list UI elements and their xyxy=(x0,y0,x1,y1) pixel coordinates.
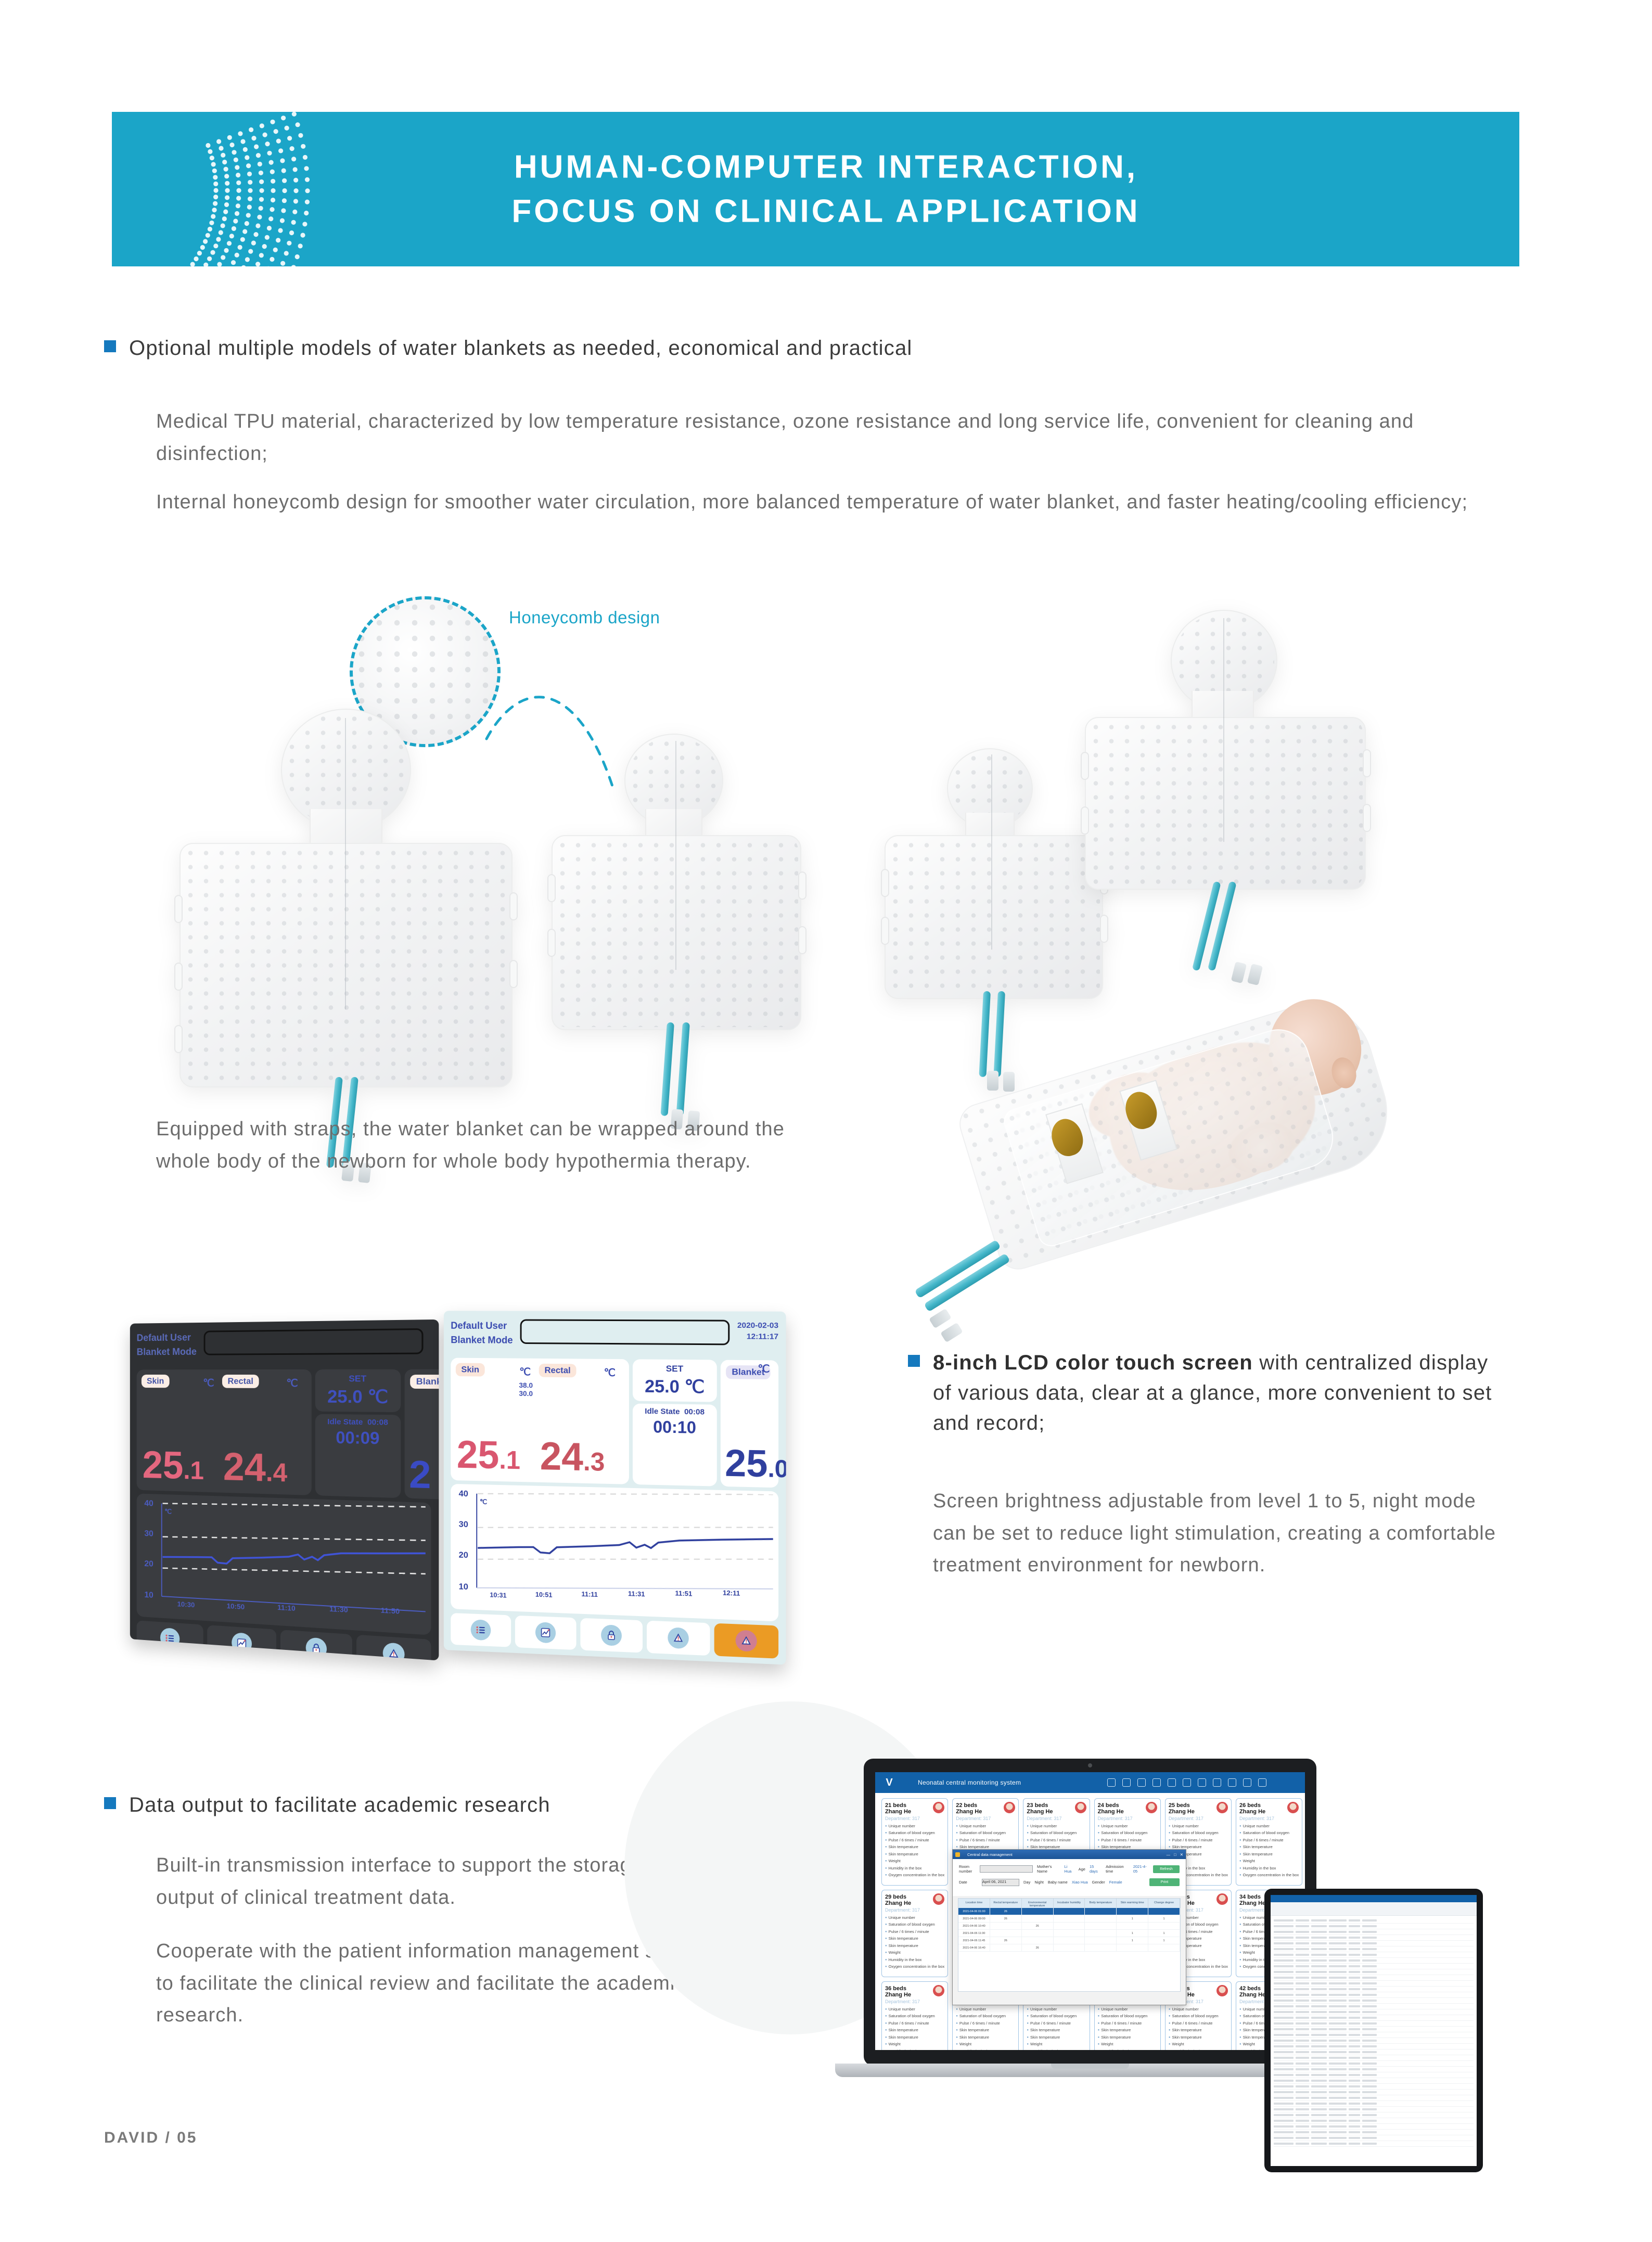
tablet-device xyxy=(1264,1889,1483,2172)
light-alarm-active-button[interactable] xyxy=(714,1623,778,1659)
light-trend-chart[interactable]: 4030 2010 ℃ 10:31 10:51 11:11 11:31 11:5… xyxy=(451,1484,778,1622)
patient-avatar-icon xyxy=(1075,1802,1086,1813)
dialog-column-header: Skin warming time xyxy=(1117,1899,1148,1908)
bed-metric: Saturation of blood oxygen xyxy=(1239,1830,1299,1835)
dialog-table-cell xyxy=(1148,1944,1180,1951)
bed-metric: Weight xyxy=(1239,1859,1299,1863)
dialog-baby-value: Xiao Hua xyxy=(1072,1880,1088,1885)
dialog-table-row[interactable]: 2021-04-06 10:4026 xyxy=(958,1923,1180,1930)
bed-metric: Unique number xyxy=(885,2007,944,2012)
bed-metric: Saturation of blood oxygen xyxy=(956,1830,1015,1835)
tablet-row[interactable] xyxy=(1274,1941,1474,1946)
svg-text:30: 30 xyxy=(459,1519,468,1529)
tablet-row[interactable] xyxy=(1274,1929,1474,1935)
svg-text:10: 10 xyxy=(144,1590,153,1600)
dialog-date-label: Date xyxy=(959,1880,978,1885)
dialog-bed-select[interactable] xyxy=(980,1865,1033,1873)
tablet-screen[interactable] xyxy=(1271,1895,1477,2166)
water-blanket-medium-left xyxy=(552,770,801,1030)
trend-icon xyxy=(232,1632,252,1654)
tablet-row[interactable] xyxy=(1274,1918,1474,1924)
newborn-wrapped-illustration xyxy=(916,968,1478,1290)
bed-department: Department: 317 xyxy=(1098,1816,1157,1821)
light-skin-cell: Skin ℃ 38.0 30.0 25.1 xyxy=(456,1363,539,1479)
dialog-table-cell xyxy=(1117,1923,1148,1929)
dark-rectal-cell: Rectal ℃ 24.4 xyxy=(222,1375,306,1492)
dialog-table-cell xyxy=(1085,1915,1117,1922)
bed-metric: Oxygen concentration in the box xyxy=(1239,1873,1299,1877)
tablet-row[interactable] xyxy=(1274,2118,1474,2124)
dialog-table-cell xyxy=(990,1944,1022,1951)
dark-skin-unit: ℃ xyxy=(203,1377,214,1390)
light-user-name: Default User xyxy=(451,1319,513,1334)
dialog-table-cell xyxy=(1148,1923,1180,1929)
tablet-row[interactable] xyxy=(1274,2095,1474,2101)
dialog-bed-label: Room number xyxy=(959,1864,976,1874)
alarm-icon xyxy=(382,1642,404,1660)
water-blanket-small-right xyxy=(885,780,1103,999)
dialog-table-row[interactable]: 2021-04-06 11:3011 xyxy=(958,1930,1180,1937)
svg-text:℃: ℃ xyxy=(164,1508,172,1515)
dialog-day-radio[interactable]: Day xyxy=(1023,1880,1030,1885)
dialog-table-row[interactable]: 2021-04-06 11:452611 xyxy=(958,1937,1180,1944)
light-skin-max: 38.0 xyxy=(519,1381,533,1389)
svg-text:11:50: 11:50 xyxy=(381,1606,400,1616)
bed-metric: Saturation of blood oxygen xyxy=(885,2014,944,2018)
dialog-table-cell xyxy=(1054,1923,1085,1929)
bed-department: Department: 317 xyxy=(885,1999,944,2004)
bed-metric: Unique number xyxy=(1169,2007,1228,2012)
bed-metric: Saturation of blood oxygen xyxy=(1098,1830,1157,1835)
dialog-admit-value: 2021-4-05 xyxy=(1133,1864,1149,1874)
dialog-table-cell: 1 xyxy=(1148,1937,1180,1944)
toolbar-icon-10[interactable] xyxy=(1243,1778,1251,1787)
bed-metric: Weight xyxy=(885,1859,944,1863)
tablet-row[interactable] xyxy=(1274,1998,1474,2004)
dialog-table-cell: 1 xyxy=(1148,1915,1180,1922)
webcam-icon xyxy=(1088,1763,1092,1767)
dark-skin-value: 25.1 xyxy=(143,1446,204,1486)
dialog-table-cell xyxy=(1085,1908,1117,1915)
tablet-row[interactable] xyxy=(1274,1952,1474,1958)
bed-card[interactable]: 26 bedsZhang HeDepartment: 317Unique num… xyxy=(1236,1798,1302,1886)
dialog-table-cell: 2021-04-06 10:40 xyxy=(958,1923,990,1929)
dialog-gender-label: Gender xyxy=(1092,1880,1105,1885)
dark-trend-button[interactable] xyxy=(207,1625,276,1660)
tablet-app-toolbar xyxy=(1271,1895,1477,1902)
tablet-row[interactable] xyxy=(1274,2084,1474,2090)
bed-metric: Pulse / 6 times / minute xyxy=(1027,1838,1086,1842)
app-logo-icon: V xyxy=(882,1776,896,1789)
tablet-row[interactable] xyxy=(1274,1987,1474,1992)
dialog-table-cell xyxy=(1085,1923,1117,1929)
bed-metric: Humidity in the box xyxy=(1239,1866,1299,1871)
bed-metric: Skin temperature xyxy=(885,1936,944,1941)
paragraph-honeycomb: Internal honeycomb design for smoother w… xyxy=(156,486,1488,519)
tablet-row[interactable] xyxy=(1274,1975,1474,1981)
svg-text:10: 10 xyxy=(459,1582,468,1592)
bed-metric: Saturation of blood oxygen xyxy=(1098,2014,1157,2018)
tablet-row[interactable] xyxy=(1274,2101,1474,2107)
bed-metric: Saturation of blood oxygen xyxy=(885,1830,944,1835)
tablet-row[interactable] xyxy=(1274,2009,1474,2015)
dialog-table-cell: 1 xyxy=(1148,1930,1180,1937)
bullet-lcd-label: 8-inch LCD color touch screen with centr… xyxy=(933,1348,1506,1438)
dark-set-label: SET xyxy=(318,1374,398,1385)
bed-department: Department: 317 xyxy=(885,1816,944,1821)
tablet-row[interactable] xyxy=(1274,2055,1474,2061)
dialog-table-cell: 26 xyxy=(990,1937,1022,1944)
bed-metric: Pulse / 6 times / minute xyxy=(1169,1838,1228,1842)
bed-metric: Skin temperature xyxy=(1169,2028,1228,2032)
toolbar-icon-1[interactable] xyxy=(1107,1778,1116,1787)
dark-idle-row: Idle State 00:08 xyxy=(318,1417,398,1427)
dialog-row-1: Room number Mother's Name Li Hua Age 15 … xyxy=(959,1864,1180,1874)
light-set-label: SET xyxy=(636,1363,714,1374)
dark-patient-field[interactable] xyxy=(203,1328,423,1355)
light-blanket-card: Blanket ℃ 25.0 xyxy=(721,1360,778,1488)
bed-metric: Humidity in the box xyxy=(1027,2049,1086,2051)
dark-idle-value: 00:09 xyxy=(318,1428,398,1449)
bed-department: Department: 317 xyxy=(885,1907,944,1913)
patient-avatar-icon xyxy=(1216,1893,1228,1905)
bullet-data-output-label: Data output to facilitate academic resea… xyxy=(129,1790,550,1820)
tablet-row[interactable] xyxy=(1274,2038,1474,2044)
bed-metric: Skin temperature xyxy=(1239,1852,1299,1856)
light-alarm-button[interactable] xyxy=(647,1621,710,1656)
toolbar-icon-11[interactable] xyxy=(1258,1778,1266,1787)
toolbar-icon-5[interactable] xyxy=(1168,1778,1176,1787)
bed-metric: Skin temperature xyxy=(885,2035,944,2040)
bed-metric: Weight xyxy=(956,2042,1015,2046)
dialog-column-header: Location time xyxy=(958,1899,990,1908)
svg-text:10:30: 10:30 xyxy=(177,1600,195,1609)
paragraph-straps: Equipped with straps, the water blanket … xyxy=(156,1113,843,1177)
bed-metric: Humidity in the box xyxy=(885,1957,944,1962)
tablet-row[interactable] xyxy=(1274,2027,1474,2032)
dark-set-card[interactable]: SET 25.0 ℃ xyxy=(315,1369,401,1412)
tablet-row[interactable] xyxy=(1274,2061,1474,2067)
dialog-night-radio[interactable]: Night xyxy=(1034,1880,1044,1885)
light-datetime: 2020-02-03 12:11:17 xyxy=(737,1320,778,1342)
bed-metric: Skin temperature xyxy=(885,1844,944,1849)
dialog-gender-value: Female xyxy=(1109,1880,1122,1885)
light-lock-button[interactable] xyxy=(580,1618,643,1653)
bed-card[interactable]: 21 bedsZhang HeDepartment: 317Unique num… xyxy=(881,1798,948,1886)
bed-metric: Unique number xyxy=(885,1915,944,1920)
dialog-date-select[interactable]: April 06, 2021 xyxy=(982,1879,1019,1886)
bed-metric: Skin temperature xyxy=(885,1943,944,1948)
bed-card[interactable]: 29 bedsZhang HeDepartment: 317Unique num… xyxy=(881,1890,948,1977)
tablet-subheader xyxy=(1271,1902,1477,1916)
light-skin-tag[interactable]: Skin xyxy=(456,1363,485,1376)
tablet-row[interactable] xyxy=(1274,1964,1474,1969)
light-user-block: Default User Blanket Mode xyxy=(451,1319,513,1348)
trend-icon xyxy=(535,1622,556,1643)
bed-metric: Unique number xyxy=(885,1824,944,1828)
tablet-row[interactable] xyxy=(1274,2124,1474,2130)
dialog-table-cell xyxy=(1085,1944,1117,1951)
bed-metric: Unique number xyxy=(1098,1824,1157,1828)
dark-blanket-tag[interactable]: Blanket xyxy=(410,1375,439,1389)
svg-text:10:50: 10:50 xyxy=(227,1602,245,1611)
bed-metric: Pulse / 6 times / minute xyxy=(956,2021,1015,2026)
laptop-device: V Neonatal central monitoring system xyxy=(864,1759,1316,2066)
bed-department: Department: 317 xyxy=(1027,1816,1086,1821)
svg-text:11:30: 11:30 xyxy=(329,1605,348,1614)
tablet-row[interactable] xyxy=(1274,2044,1474,2049)
tablet-row[interactable] xyxy=(1274,1981,1474,1987)
tablet-row[interactable] xyxy=(1274,2141,1474,2147)
dark-blanket-card: Blanket ℃ 2 xyxy=(405,1369,439,1500)
bed-metric: Skin temperature xyxy=(1027,2028,1086,2032)
dark-chart-svg: 4030 2010 ℃ 10:30 10:50 11:10 11:30 11:5… xyxy=(139,1496,428,1627)
dialog-mother-label: Mother's Name xyxy=(1037,1864,1060,1874)
central-data-dialog[interactable]: Central data management — □ ✕ Room numbe… xyxy=(952,1849,1186,2005)
bed-metric: Humidity in the box xyxy=(1169,2049,1228,2051)
bed-metric: Oxygen concentration in the box xyxy=(885,1964,944,1969)
tablet-row[interactable] xyxy=(1274,1946,1474,1952)
app-toolbar-icons xyxy=(1107,1778,1298,1787)
tablet-row[interactable] xyxy=(1274,2049,1474,2055)
dark-trend-chart[interactable]: 4030 2010 ℃ 10:30 10:50 11:10 11:30 11:5… xyxy=(137,1493,431,1635)
bed-metric: Skin temperature xyxy=(1027,1844,1086,1849)
dialog-column-header: Environmental temperature xyxy=(1022,1899,1054,1908)
dialog-table-cell: 2021-04-06 01:00 xyxy=(958,1908,990,1915)
toolbar-icon-9[interactable] xyxy=(1228,1778,1236,1787)
paragraph-brightness: Screen brightness adjustable from level … xyxy=(933,1485,1516,1582)
dialog-mother-value: Li Hua xyxy=(1065,1864,1074,1874)
laptop-screen[interactable]: V Neonatal central monitoring system xyxy=(875,1772,1305,2050)
dialog-age-label: Age xyxy=(1079,1867,1085,1872)
baby-tube-tip-2 xyxy=(940,1323,963,1343)
light-skin-unit: ℃ xyxy=(519,1365,531,1378)
alarm-active-icon xyxy=(736,1630,757,1651)
svg-text:11:11: 11:11 xyxy=(581,1590,598,1598)
patient-avatar-icon xyxy=(1216,1802,1228,1813)
bed-metric: Skin temperature xyxy=(1098,2028,1157,2032)
dark-rectal-tag[interactable]: Rectal xyxy=(222,1375,259,1388)
dark-mode-label: Blanket Mode xyxy=(137,1345,197,1359)
tablet-row[interactable] xyxy=(1274,1992,1474,1998)
light-date: 2020-02-03 xyxy=(737,1320,778,1331)
bed-department: Department: 317 xyxy=(956,1816,1015,1821)
toolbar-icon-6[interactable] xyxy=(1183,1778,1191,1787)
dialog-table-cell xyxy=(1085,1930,1117,1937)
dark-menu-button[interactable] xyxy=(137,1620,203,1656)
dialog-table-row[interactable]: 2021-04-06 09:002611 xyxy=(958,1915,1180,1923)
tablet-row[interactable] xyxy=(1274,2078,1474,2084)
light-blanket-unit: ℃ xyxy=(758,1362,770,1376)
dark-temperature-card: Skin ℃ 25.1 Rectal ℃ 24.4 xyxy=(137,1369,312,1495)
dialog-table-cell: 26 xyxy=(990,1908,1022,1915)
bed-metric: Pulse / 6 times / minute xyxy=(1169,2021,1228,2026)
bed-metric: Unique number xyxy=(1027,2007,1086,2012)
dialog-table-cell: 26 xyxy=(1022,1923,1054,1929)
tablet-row[interactable] xyxy=(1274,2032,1474,2038)
dialog-table-cell: 2021-04-06 09:00 xyxy=(958,1915,990,1922)
bed-metric: Humidity in the box xyxy=(885,2049,944,2051)
dialog-table-cell xyxy=(1022,1908,1054,1915)
baby-tube-tip-1 xyxy=(929,1309,952,1329)
tablet-row[interactable] xyxy=(1274,2015,1474,2021)
light-idle-card: Idle State 00:08 00:10 xyxy=(633,1404,717,1487)
bed-metric: Humidity in the box xyxy=(956,2049,1015,2051)
light-blanket-value: 25.0 xyxy=(725,1444,786,1484)
tablet-row[interactable] xyxy=(1274,2072,1474,2078)
light-rectal-tag[interactable]: Rectal xyxy=(539,1364,577,1377)
light-set-card[interactable]: SET 25.0 ℃ xyxy=(633,1359,717,1402)
dialog-table-row[interactable]: 2021-04-06 01:0026 xyxy=(958,1908,1180,1915)
tablet-row[interactable] xyxy=(1274,1935,1474,1941)
toolbar-icon-4[interactable] xyxy=(1152,1778,1161,1787)
dark-blanket-value: 2 xyxy=(409,1455,431,1495)
toolbar-icon-7[interactable] xyxy=(1198,1778,1206,1787)
bed-metric: Pulse / 6 times / minute xyxy=(1239,1838,1299,1842)
lcd-screen-day-mode[interactable]: Default User Blanket Mode 2020-02-03 12:… xyxy=(444,1311,786,1664)
bed-metric: Weight xyxy=(1098,2042,1157,2046)
dialog-title: Central data management xyxy=(967,1852,1013,1857)
dialog-table-cell xyxy=(990,1930,1022,1937)
bed-metric: Skin temperature xyxy=(1169,2035,1228,2040)
svg-text:40: 40 xyxy=(144,1498,153,1508)
dialog-column-header: Change degree xyxy=(1148,1899,1180,1908)
bed-metric: Unique number xyxy=(1169,1824,1228,1828)
lock-icon xyxy=(601,1624,622,1646)
toolbar-icon-8[interactable] xyxy=(1213,1778,1221,1787)
dialog-minimize-icon[interactable]: — xyxy=(1167,1852,1171,1857)
dialog-table-cell: 2021-04-06 11:45 xyxy=(958,1937,990,1944)
bed-metric: Skin temperature xyxy=(1098,2035,1157,2040)
dialog-close-icon[interactable]: ✕ xyxy=(1180,1852,1183,1857)
dark-lock-button[interactable] xyxy=(280,1630,352,1660)
svg-text:12:11: 12:11 xyxy=(723,1588,740,1597)
bed-metric: Pulse / 6 times / minute xyxy=(885,2021,944,2026)
bed-department: Department: 317 xyxy=(1239,1816,1299,1821)
page-footer: DAVID / 05 xyxy=(104,2129,198,2147)
dialog-table-cell xyxy=(990,1923,1022,1929)
lcd-screen-night-mode[interactable]: Default User Blanket Mode Skin ℃ 25.1 Re… xyxy=(130,1319,439,1661)
tablet-row[interactable] xyxy=(1274,1969,1474,1975)
dialog-print-button[interactable]: Print xyxy=(1149,1878,1180,1886)
svg-text:20: 20 xyxy=(459,1550,468,1560)
dialog-table-cell xyxy=(1022,1937,1054,1944)
dialog-table-body: 2021-04-06 01:00262021-04-06 09:00261120… xyxy=(958,1908,1180,1952)
dialog-column-header: Rectal temperature xyxy=(990,1899,1022,1908)
dialog-refresh-button[interactable]: Refresh xyxy=(1153,1865,1180,1873)
tablet-row[interactable] xyxy=(1274,2130,1474,2135)
app-title: Neonatal central monitoring system xyxy=(918,1779,1021,1786)
dialog-table-cell xyxy=(1117,1944,1148,1951)
light-patient-field[interactable] xyxy=(520,1319,729,1345)
bed-metric: Saturation of blood oxygen xyxy=(885,1922,944,1927)
bed-metric: Skin temperature xyxy=(956,2035,1015,2040)
dark-set-column: SET 25.0 ℃ Idle State 00:08 00:09 xyxy=(315,1369,401,1498)
dialog-maximize-icon[interactable]: □ xyxy=(1174,1852,1176,1857)
svg-text:10:51: 10:51 xyxy=(535,1591,553,1599)
bed-metric: Unique number xyxy=(956,2007,1015,2012)
light-menu-button[interactable] xyxy=(451,1613,511,1647)
dialog-table-cell xyxy=(1054,1915,1085,1922)
dialog-table-cell: 1 xyxy=(1117,1937,1148,1944)
dialog-table-cell xyxy=(1148,1908,1180,1915)
bullet-blankets-label: Optional multiple models of water blanke… xyxy=(129,333,913,363)
bed-card[interactable]: 36 bedsZhang HeDepartment: 317Unique num… xyxy=(881,1981,948,2050)
light-time: 12:11:17 xyxy=(737,1331,778,1342)
svg-text:11:51: 11:51 xyxy=(675,1589,692,1597)
bed-metric: Unique number xyxy=(1239,1824,1299,1828)
bed-metric: Skin temperature xyxy=(1169,1844,1228,1849)
light-idle-row: Idle State 00:08 xyxy=(636,1407,714,1417)
light-set-column: SET 25.0 ℃ Idle State 00:08 00:10 xyxy=(633,1359,717,1486)
tablet-data-rows xyxy=(1271,1916,1477,2149)
toolbar-icon-2[interactable] xyxy=(1122,1778,1131,1787)
tablet-row[interactable] xyxy=(1274,1958,1474,1964)
bed-metric: Skin temperature xyxy=(956,1844,1015,1849)
light-temperature-card: Skin ℃ 38.0 30.0 25.1 Rectal ℃ 24.3 xyxy=(451,1358,629,1484)
dark-idle-card: Idle State 00:08 00:09 xyxy=(315,1414,401,1498)
dark-alarm-button[interactable] xyxy=(356,1635,431,1661)
page-header-banner: HUMAN-COMPUTER INTERACTION, FOCUS ON CLI… xyxy=(112,112,1519,266)
bed-metric: Weight xyxy=(1027,2042,1086,2046)
tablet-row[interactable] xyxy=(1274,2107,1474,2112)
dialog-admit-label: Admission time xyxy=(1106,1864,1129,1874)
bed-metric: Saturation of blood oxygen xyxy=(1027,1830,1086,1835)
dialog-table-cell xyxy=(1022,1915,1054,1922)
lcd-screens-group: Default User Blanket Mode Skin ℃ 25.1 Re… xyxy=(122,1311,819,1675)
bed-metric: Pulse / 6 times / minute xyxy=(956,1838,1015,1842)
bed-metric: Skin temperature xyxy=(885,1852,944,1856)
dialog-data-table[interactable]: Location timeRectal temperatureEnvironme… xyxy=(958,1898,1181,1992)
tablet-row[interactable] xyxy=(1274,2090,1474,2095)
tablet-row[interactable] xyxy=(1274,2112,1474,2118)
tablet-row[interactable] xyxy=(1274,2135,1474,2141)
dialog-table-cell xyxy=(1054,1937,1085,1944)
paragraph-tpu-material: Medical TPU material, characterized by l… xyxy=(156,406,1488,470)
light-rectal-unit: ℃ xyxy=(604,1366,616,1379)
tablet-row[interactable] xyxy=(1274,2067,1474,2072)
page-title-line1: HUMAN-COMPUTER INTERACTION, xyxy=(514,149,1138,185)
dialog-app-icon xyxy=(955,1852,960,1857)
tablet-row[interactable] xyxy=(1274,2021,1474,2027)
bed-metric: Saturation of blood oxygen xyxy=(1169,2014,1228,2018)
alarm-icon xyxy=(668,1627,688,1649)
dialog-table-cell xyxy=(1085,1937,1117,1944)
tablet-row[interactable] xyxy=(1274,1924,1474,1929)
menu-icon xyxy=(471,1619,491,1641)
dialog-table-row[interactable]: 2021-04-06 16:4026 xyxy=(958,1944,1180,1952)
dark-skin-tag[interactable]: Skin xyxy=(142,1375,170,1388)
app-toolbar: V Neonatal central monitoring system xyxy=(875,1772,1305,1793)
menu-icon xyxy=(160,1628,179,1649)
bed-metric: Weight xyxy=(885,1950,944,1955)
dialog-table-cell xyxy=(1117,1908,1148,1915)
svg-text:10:31: 10:31 xyxy=(490,1591,506,1599)
bed-metric: Unique number xyxy=(956,1824,1015,1828)
bed-metric: Weight xyxy=(1169,2042,1228,2046)
bed-metric: Skin temperature xyxy=(1098,1844,1157,1849)
tablet-row[interactable] xyxy=(1274,2004,1474,2009)
dialog-table-cell: 2021-04-06 11:30 xyxy=(958,1930,990,1937)
svg-text:30: 30 xyxy=(144,1528,153,1539)
bed-metric: Oxygen concentration in the box xyxy=(885,1873,944,1877)
dark-rectal-value: 24.4 xyxy=(223,1447,287,1489)
toolbar-icon-3[interactable] xyxy=(1137,1778,1146,1787)
light-idle-value: 00:10 xyxy=(636,1417,714,1438)
dialog-column-header: Body temperature xyxy=(1085,1899,1117,1908)
light-trend-button[interactable] xyxy=(515,1616,577,1650)
dialog-baby-label: Baby name xyxy=(1048,1880,1068,1885)
